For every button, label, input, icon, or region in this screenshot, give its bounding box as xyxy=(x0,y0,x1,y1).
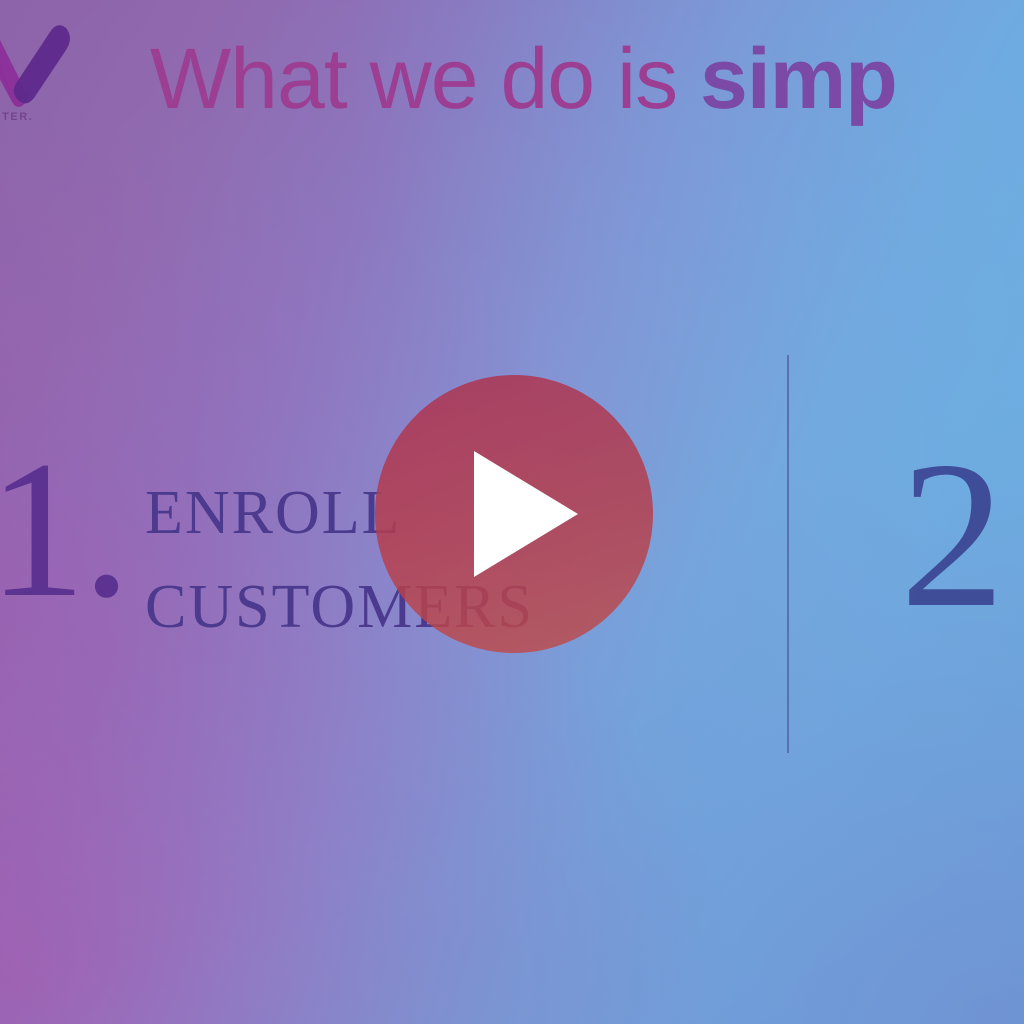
play-triangle-icon xyxy=(474,451,578,577)
video-poster-frame: TER. What we do is simp 1. ENROLL CUSTOM… xyxy=(0,0,1024,1024)
brand-logo: TER. xyxy=(0,16,82,132)
step-two-number: 2 xyxy=(900,430,1001,640)
checkmark-v-logo-icon xyxy=(0,16,82,116)
headline: What we do is simp xyxy=(150,36,897,122)
headline-light-text: What we do is xyxy=(150,31,700,127)
section-divider xyxy=(787,355,789,753)
play-button[interactable] xyxy=(375,375,653,653)
headline-bold-text: simp xyxy=(700,31,897,127)
brand-tagline: TER. xyxy=(2,111,33,123)
step-one-number: 1. xyxy=(0,436,127,624)
